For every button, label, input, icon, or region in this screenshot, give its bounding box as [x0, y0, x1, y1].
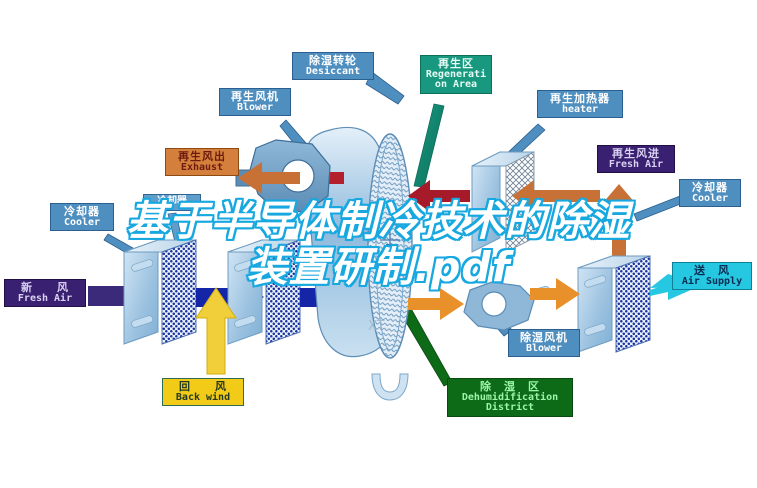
schematic-illustration: XT [0, 0, 757, 488]
label-fresh-air[interactable]: 新 风 Fresh Air [4, 279, 86, 307]
label-regeneration-heater-cn: 再生加热器 [542, 93, 618, 105]
cooler-coil-right [578, 256, 650, 352]
label-dehumidification-district[interactable]: 除 湿 区 Dehumidification District [447, 378, 573, 417]
label-regeneration-heater-en: heater [542, 105, 618, 116]
label-air-supply-cn: 送 风 [677, 265, 747, 277]
label-exhaust-en: Exhaust [170, 163, 234, 174]
label-regeneration-fresh-air-en: Fresh Air [602, 160, 670, 171]
label-dehumidification-blower[interactable]: 除湿风机 Blower [508, 329, 580, 357]
cooler-coil-mid [228, 240, 300, 344]
label-regeneration-fresh-air-cn: 再生风进 [602, 148, 670, 160]
label-cooler-left-en: Cooler [55, 218, 109, 229]
label-dehumidification-blower-cn: 除湿风机 [513, 332, 575, 344]
label-desiccant-wheel-en: Desiccant [297, 67, 369, 78]
label-regeneration-heater[interactable]: 再生加热器 heater [537, 90, 623, 118]
label-air-supply[interactable]: 送 风 Air Supply [672, 262, 752, 290]
label-regeneration-area-en: Regenerati on Area [425, 70, 487, 91]
label-air-supply-en: Air Supply [677, 277, 747, 288]
label-desiccant-wheel[interactable]: 除湿转轮 Desiccant [292, 52, 374, 80]
label-regeneration-blower[interactable]: 再生风机 Blower [219, 88, 291, 116]
label-regeneration-blower-cn: 再生风机 [224, 91, 286, 103]
label-fresh-air-en: Fresh Air [9, 294, 81, 305]
label-exhaust[interactable]: 再生风出 Exhaust [165, 148, 239, 176]
label-fresh-air-cn: 新 风 [9, 282, 81, 294]
diagram-canvas: XT [0, 0, 757, 488]
label-dehumidification-district-cn: 除 湿 区 [452, 381, 568, 393]
label-back-wind[interactable]: 回 风 Back wind [162, 378, 244, 406]
cooler-coil-left [124, 240, 196, 344]
label-regeneration-fresh-air[interactable]: 再生风进 Fresh Air [597, 145, 675, 173]
label-back-wind-cn: 回 风 [167, 381, 239, 393]
label-regeneration-area[interactable]: 再生区 Regenerati on Area [420, 55, 492, 94]
label-cooler-left[interactable]: 冷却器 Cooler [50, 203, 114, 231]
label-regeneration-blower-en: Blower [224, 103, 286, 114]
label-exhaust-cn: 再生风出 [170, 151, 234, 163]
label-cooler-mid[interactable]: 冷却器 [143, 194, 201, 211]
watermark-text: XT [368, 319, 385, 334]
label-cooler-right-cn: 冷却器 [684, 182, 736, 194]
label-cooler-right-en: Cooler [684, 194, 736, 205]
label-desiccant-wheel-cn: 除湿转轮 [297, 55, 369, 67]
label-cooler-right[interactable]: 冷却器 Cooler [679, 179, 741, 207]
label-dehumidification-district-en: Dehumidification District [452, 393, 568, 414]
label-cooler-left-cn: 冷却器 [55, 206, 109, 218]
label-regeneration-area-cn: 再生区 [425, 58, 487, 70]
label-cooler-mid-cn: 冷却器 [148, 197, 196, 208]
label-back-wind-en: Back wind [167, 393, 239, 404]
label-dehumidification-blower-en: Blower [513, 344, 575, 355]
